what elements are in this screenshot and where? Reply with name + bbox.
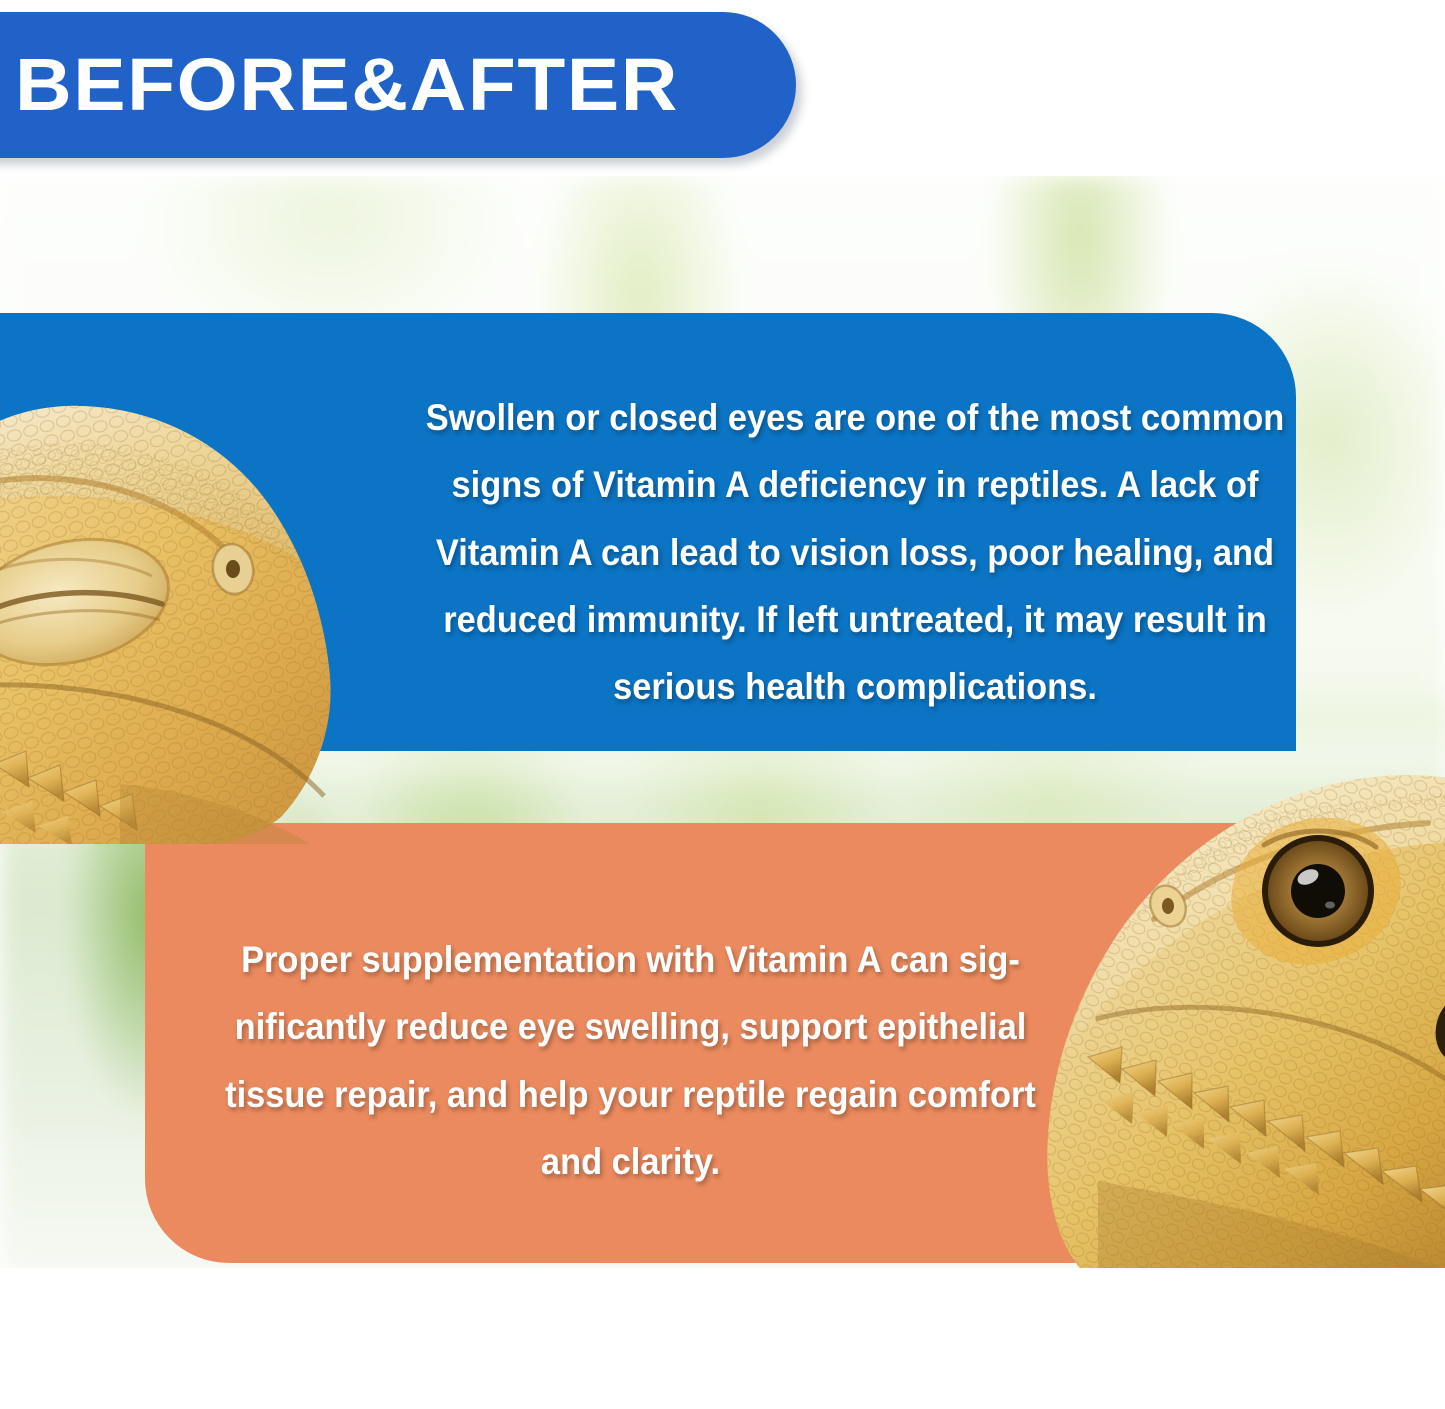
comparison-photo-stage: Swollen or closed eyes are one of the mo… <box>0 176 1445 1268</box>
after-body-text: Proper supplementation with Vitamin A ca… <box>200 926 1060 1195</box>
eye-pupil <box>1291 864 1345 918</box>
nostril-hole <box>1162 898 1174 914</box>
footer-whitespace <box>0 1268 1445 1409</box>
before-after-title-pill: BEFORE&AFTER <box>0 12 796 158</box>
eye-highlight-secondary <box>1325 902 1335 909</box>
header-band: BEFORE&AFTER <box>0 0 1445 176</box>
ear-hole <box>226 560 240 578</box>
page-title: BEFORE&AFTER <box>15 48 679 122</box>
before-lizard-photo <box>0 224 380 844</box>
before-body-text: Swollen or closed eyes are one of the mo… <box>390 384 1320 721</box>
